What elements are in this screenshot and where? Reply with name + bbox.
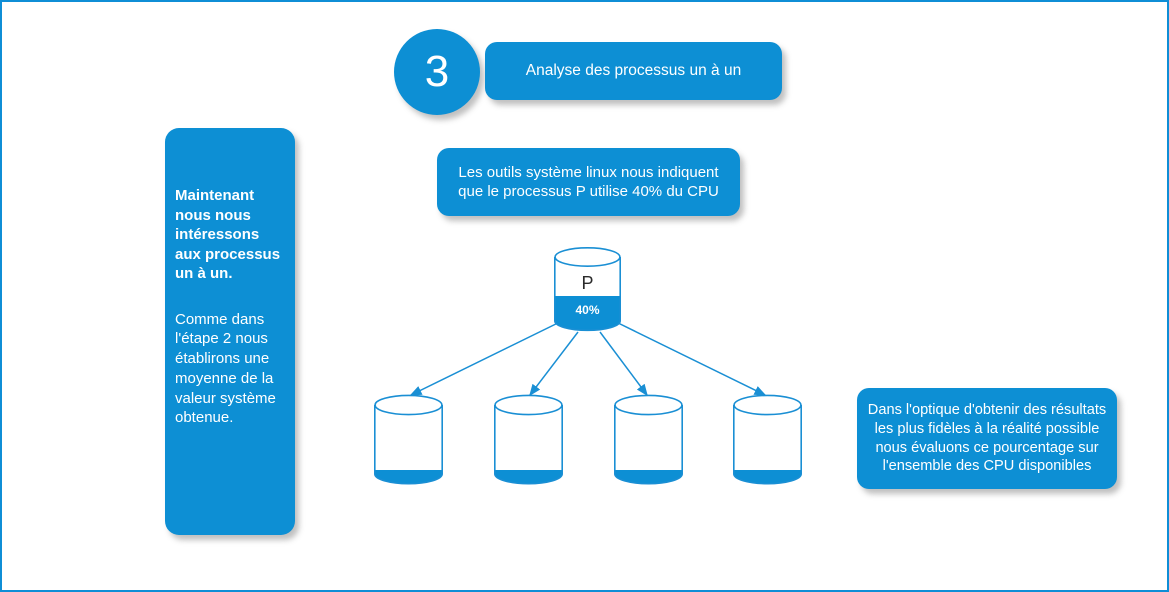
header-title-bar: Analyse des processus un à un bbox=[485, 42, 782, 100]
sidebar-normal-text: Comme dans l'étape 2 nous établirons une… bbox=[175, 310, 289, 429]
sidebar-panel: Maintenant nous nous intéressons aux pro… bbox=[165, 128, 295, 535]
arrow-to-cpu-3 bbox=[600, 332, 647, 395]
callout-top-box: Les outils système linux nous indiquent … bbox=[437, 148, 740, 216]
cylinder-cpu-2: 10% bbox=[494, 394, 563, 485]
cylinder-cpu-4: 10% bbox=[733, 394, 802, 485]
callout-top-label: Les outils système linux nous indiquent … bbox=[447, 163, 730, 201]
sidebar-bold-text: Maintenant nous nous intéressons aux pro… bbox=[175, 186, 289, 284]
cylinder-main-process: P 40% bbox=[554, 247, 621, 331]
callout-right-label: Dans l'optique d'obtenir des résultats l… bbox=[866, 401, 1108, 476]
cylinder-cpu-1: 10% bbox=[374, 394, 443, 485]
sidebar-text-block: Maintenant nous nous intéressons aux pro… bbox=[175, 186, 289, 428]
arrow-to-cpu-4 bbox=[612, 320, 765, 395]
step-number-label: 3 bbox=[425, 47, 449, 97]
callout-right-box: Dans l'optique d'obtenir des résultats l… bbox=[857, 388, 1117, 489]
arrow-to-cpu-1 bbox=[411, 320, 564, 395]
step-number-circle: 3 bbox=[394, 29, 480, 115]
cylinder-cpu-3: 10% bbox=[614, 394, 683, 485]
slide-canvas: 3 Analyse des processus un à un Maintena… bbox=[0, 0, 1169, 592]
arrow-to-cpu-2 bbox=[530, 332, 578, 395]
header-title-label: Analyse des processus un à un bbox=[526, 61, 741, 81]
